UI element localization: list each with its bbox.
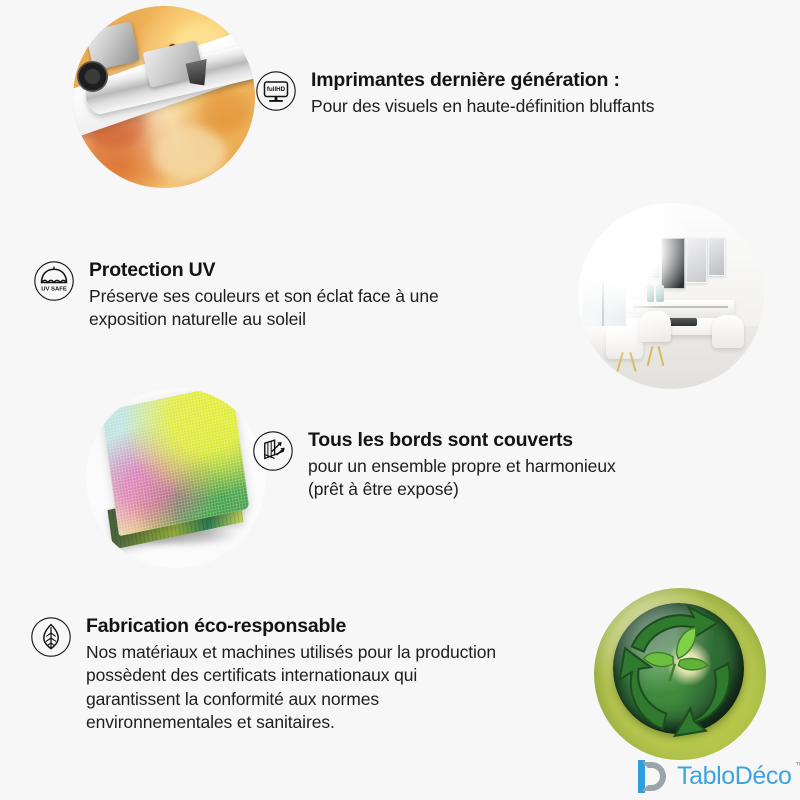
feature-eco-manufacturing: Fabrication éco-responsable Nos matériau… <box>30 614 496 734</box>
svg-text:fullHD: fullHD <box>267 86 286 93</box>
uv-safe-umbrella-icon: UV SAFE <box>33 260 75 302</box>
feature-body: Pour des visuels en haute-définition blu… <box>311 95 654 118</box>
stylized-d-logomark <box>636 760 670 793</box>
brand-name: TabloDéco ™ <box>677 764 792 789</box>
feature-uv-protection: UV SAFE Protection UV Préserve ses coule… <box>33 258 439 332</box>
feature-body: Nos matériaux et machines utilisés pour … <box>86 641 496 734</box>
feature-title: Tous les bords sont couverts <box>308 429 616 452</box>
feature-title: Fabrication éco-responsable <box>86 615 496 638</box>
feature-body: pour un ensemble propre et harmonieux (p… <box>308 455 616 502</box>
brand-logo[interactable]: TabloDéco ™ fr <box>636 760 800 793</box>
svg-text:UV SAFE: UV SAFE <box>41 287 67 293</box>
infographic-canvas: fullHD Imprimantes dernière génération :… <box>0 0 800 800</box>
trademark-symbol: ™ <box>795 761 800 770</box>
feature-printers: fullHD Imprimantes dernière génération :… <box>255 68 654 118</box>
wrapped-edges-icon <box>252 430 294 472</box>
recycling-arrows-icon <box>594 588 766 760</box>
bright-dining-room-photo <box>578 203 764 389</box>
feature-title: Imprimantes dernière génération : <box>311 69 654 92</box>
leaf-eco-icon <box>30 616 72 658</box>
feature-title: Protection UV <box>89 259 439 282</box>
canvas-wrapped-corner-photo <box>86 388 266 568</box>
eco-globe-recycling-photo <box>594 588 766 760</box>
feature-covered-edges: Tous les bords sont couverts pour un ens… <box>252 428 616 502</box>
fullhd-monitor-icon: fullHD <box>255 70 297 112</box>
feature-body: Préserve ses couleurs et son éclat face … <box>89 285 439 332</box>
printer-roller-over-map-photo <box>73 6 255 188</box>
